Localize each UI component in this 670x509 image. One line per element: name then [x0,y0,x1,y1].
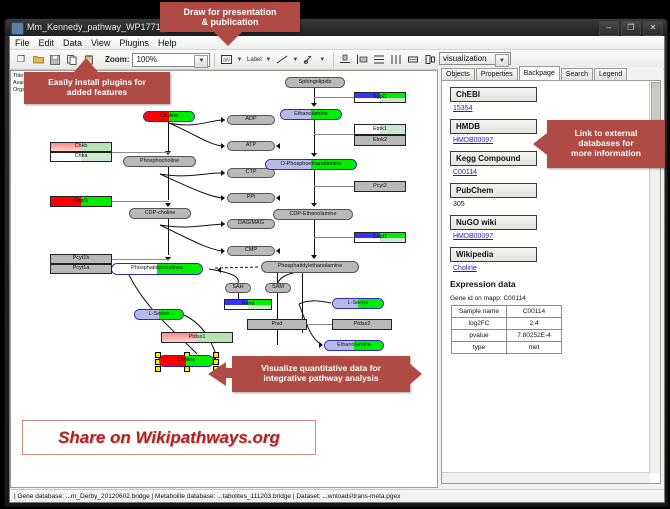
metabolite-node-ppi[interactable]: PPi [227,193,275,203]
node-label: Chka [75,154,88,160]
arrow-right-atp [221,143,225,149]
metabolite-node-cdp-choline[interactable]: CDP-choline [129,208,191,219]
interaction-dropdown-icon[interactable]: ▼ [319,57,325,63]
node-label: Choline [177,358,196,364]
edge-choline-phosphocholine [168,122,169,152]
gene-node-chpt1[interactable]: Chpt1 [50,196,112,207]
edge-pcyt1-to-backbone [112,259,169,260]
callout-share-text: Share on Wikipathways.org [58,428,280,448]
gene-node-pcyt1a[interactable]: Pcyt1a [50,264,112,274]
node-label: ATP [246,143,256,149]
metabolite-node-sam[interactable]: SAM [265,283,291,293]
menu-view[interactable]: View [91,38,110,48]
arrow-left-ppi-r [276,195,280,201]
metabolite-node-l-serine-left[interactable]: L-Serine [134,309,184,320]
cell-value-type: met [507,342,562,354]
cell-value-pvalue: 7.80252E-4 [507,330,562,342]
node-label: Sgpl1 [373,95,387,101]
db-header-hmdb: HMDB [450,119,537,134]
arrow-right-ppi [221,195,225,201]
zoom-combobox[interactable]: 100% ▼ [132,53,210,67]
callout-plugins-arrow-stem [81,70,91,76]
title-bar[interactable]: Mm_Kennedy_pathway_WP1771_45176.gpml – ❐… [5,19,667,36]
arrow-down-ethanolamine [311,103,317,107]
arrow-right-ethanolamine-bot [319,342,323,348]
db-value-pubchem: 305 [453,201,650,208]
arrow-down-cdpcholine [165,203,171,207]
label-icon[interactable]: Label [246,53,262,67]
db-header-chebi: ChEBI [450,87,537,102]
expression-data-title: Expression data [450,279,650,289]
arrow-right-ctp [221,170,225,176]
node-label: Chkb [75,144,88,150]
node-label: CTP [246,170,257,176]
db-header-wikipedia: Wikipedia [450,247,537,262]
metabolite-node-sphingolipids[interactable]: Sphingolipids [285,77,345,88]
align-bottom-icon[interactable] [338,53,352,67]
datanode-dropdown-icon[interactable]: ▼ [236,57,242,63]
gene-node-cept1[interactable]: Cept1 [354,232,406,243]
metabolite-node-choline-top[interactable]: Choline [143,111,195,122]
arrow-right-dag [221,221,225,227]
table-row: pvalue 7.80252E-4 [452,330,562,342]
menu-plugins[interactable]: Plugins [119,38,149,48]
node-label: Ptdss2 [354,322,371,328]
edge-pcyt2-to-backbone [314,186,355,187]
node-label: Phosphocholine [140,159,179,165]
toolbar-separator-2 [333,53,334,67]
node-label: Ethanolamine [337,343,371,349]
db-header-pubchem: PubChem [450,183,537,198]
callout-visualize: Visualize quantitative data for integrat… [232,356,410,392]
metabolite-node-phosphatidylcholines[interactable]: Phosphatidylcholines [111,263,203,275]
distribute-vertical-icon[interactable] [372,53,386,67]
node-label: Cept1 [373,235,388,241]
callout-plugins-line2: added features [48,88,146,98]
node-label: DAG/MAG [238,221,264,227]
callout-links-line3: more information [571,149,641,159]
save-icon[interactable] [48,53,62,67]
metabolite-node-ethanolamine-top[interactable]: Ethanolamine [280,109,342,120]
tab-objects[interactable]: Objects [441,68,475,80]
db-link-nugo[interactable]: HMDB00097 [453,233,650,240]
datanode-icon[interactable]: aN [219,53,233,67]
db-link-wikipedia[interactable]: Choline [453,265,650,272]
edge-cdp-pc [168,219,169,255]
gene-node-ptdss2[interactable]: Ptdss2 [332,319,392,330]
callout-links-arrow-stem [545,139,551,149]
node-label: PPi [247,195,256,201]
metabolite-node-l-serine-right[interactable]: L-Serine [332,298,384,309]
metabolite-node-phosphocholine[interactable]: Phosphocholine [123,156,196,167]
close-button[interactable]: ✕ [643,21,663,36]
edge-chk-to-backbone [112,152,169,153]
callout-share: Share on Wikipathways.org [22,420,316,455]
node-label: SAH [232,285,243,291]
edge-sphingolipids-ethanolamine [314,88,315,104]
visualization-value: visualization [443,54,487,63]
screenshot-root: Mm_Kennedy_pathway_WP1771_45176.gpml – ❐… [0,0,670,509]
node-label: Etnk1 [373,127,387,133]
svg-text:aN: aN [223,58,230,64]
gene-node-pemt[interactable]: Pemt [224,299,272,310]
gene-id-on-mapp: Gene id on mapp: C00114 [450,295,650,302]
tab-properties[interactable]: Properties [476,68,518,80]
node-label: ADP [245,117,256,123]
db-link-chebi[interactable]: 15354 [453,105,650,112]
resize-handle-6[interactable] [184,366,190,372]
status-bar: | Gene database: ...m_Derby_20120602.bri… [10,489,664,502]
node-label: Phosphatidylethanolamine [278,264,343,270]
gene-node-chka[interactable]: Chka [50,152,112,162]
node-label: CDP-Ethanolamine [289,212,336,218]
tab-legend[interactable]: Legend [594,68,627,80]
node-label: Sphingolipids [299,80,332,86]
status-text: | Gene database: ...m_Derby_20120602.bri… [14,493,400,500]
label-dropdown-icon[interactable]: ▼ [265,57,271,63]
node-label: Chpt1 [74,199,89,205]
node-label: Phosphatidylcholines [131,266,183,272]
menu-bar: File Edit Data View Plugins Help [10,36,664,50]
metabolite-node-cdp-ethanolamine[interactable]: CDP-Ethanolamine [273,209,353,220]
new-file-icon[interactable]: ❐ [14,53,28,67]
arrow-left-sah [217,267,221,273]
gene-node-sgpl1[interactable]: Sgpl1 [354,92,406,103]
menu-file[interactable]: File [15,38,30,48]
arrow-down-ope [311,153,317,157]
gene-node-chkb[interactable]: Chkb [50,142,112,152]
metabolite-node-sah[interactable]: SAH [225,283,251,293]
node-label: Choline [160,114,179,120]
table-row: log2FC 2.4 [452,318,562,330]
line-dropdown-icon[interactable]: ▼ [292,57,298,63]
edge-etnk-to-backbone [314,134,355,135]
distribute-horizontal-icon[interactable] [389,53,403,67]
callout-draw-arrow-stem [222,30,234,36]
metabolite-node-cmp[interactable]: CMP [227,246,275,256]
node-label: Pisd [272,322,283,328]
zoom-label: Zoom: [105,55,129,64]
backpage-horizontal-scrollbar[interactable] [442,472,650,483]
edge-phosphocholine-cdp [168,167,169,200]
menu-edit[interactable]: Edit [39,38,55,48]
window-controls: – ❐ ✕ [599,21,663,36]
metabolite-node-atp[interactable]: ATP [227,141,275,151]
side-panel-tabs: Objects Properties Backpage Search Legen… [441,67,661,80]
arrow-right-adp [221,117,225,123]
node-label: SAM [272,285,284,291]
app-icon [11,22,24,35]
callout-draw: Draw for presentation & publication [160,2,300,32]
callout-draw-line1: Draw for presentation [183,7,276,17]
expression-table: Sample name C00114 log2FC 2.4 pvalue 7.8… [451,305,562,354]
callout-draw-line2: & publication [183,17,276,27]
menu-help[interactable]: Help [158,38,177,48]
arrow-left-cmp-r [276,248,280,254]
chevron-down-icon-visualization[interactable]: ▼ [495,54,509,67]
gene-node-ptdss1[interactable]: Ptdss1 [161,332,233,343]
metabolite-node-dag-mag[interactable]: DAG/MAG [227,219,275,229]
cell-label-sample-name: Sample name [452,306,507,318]
node-label: Pemt [242,302,255,308]
gene-node-pcyt2[interactable]: Pcyt2 [354,181,406,192]
zoom-value: 100% [136,55,156,64]
callout-visualize-arrow-right-icon [408,362,422,386]
metabolite-node-choline-selected[interactable]: Choline [158,355,214,367]
chevron-down-icon[interactable]: ▼ [194,55,208,68]
menu-data[interactable]: Data [63,38,82,48]
gene-node-etnk2[interactable]: Etnk2 [354,135,406,146]
interaction-icon[interactable] [302,53,316,67]
node-label: Pcyt1a [73,266,90,272]
same-width-icon[interactable] [406,53,420,67]
edge-sgpl1-to-backbone [314,97,355,98]
resize-handle-5[interactable] [155,366,161,372]
node-label: CDP-choline [145,211,176,217]
metabolite-node-ethanolamine-bot[interactable]: Ethanolamine [324,340,384,351]
gene-node-pcyt1b[interactable]: Pcyt1b [50,254,112,264]
db-link-kegg[interactable]: C00114 [453,169,650,176]
node-label: L-Serine [348,301,369,307]
cell-value-log2fc: 2.4 [507,318,562,330]
table-row: type met [452,342,562,354]
minimize-button[interactable]: – [599,21,619,36]
arrow-down-cdpetn [311,203,317,207]
edge-chpt1-to-backbone [112,201,169,202]
tab-backpage[interactable]: Backpage [519,66,560,80]
node-label: Etnk2 [373,138,387,144]
tab-search[interactable]: Search [561,68,593,80]
gene-node-etnk1[interactable]: Etnk1 [354,124,406,135]
node-label: Pcyt2 [373,184,387,190]
same-height-icon[interactable] [423,53,437,67]
node-label: Pcyt1b [73,256,90,262]
callout-visualize-arrow-stem [224,368,234,378]
node-label: Ptdss1 [189,335,206,341]
line-icon[interactable] [275,53,289,67]
visualization-combobox[interactable]: visualization ▼ [439,52,511,65]
cell-label-log2fc: log2FC [452,318,507,330]
cell-label-type: type [452,342,507,354]
node-label: Ethanolamine [294,112,328,118]
align-left-icon[interactable] [355,53,369,67]
edge-ethanolamine-ope [314,120,315,153]
metabolite-node-o-phosphoethanolamine[interactable]: O-Phosphoethanolamine [265,159,357,170]
arrow-left-atp-r [276,143,280,149]
toolbar-separator [214,53,215,67]
node-label: O-Phosphoethanolamine [281,162,342,168]
metabolite-node-phosphatidylethanolamine[interactable]: Phosphatidylethanolamine [261,261,359,273]
node-label: L-Serine [149,312,170,318]
arrow-right-cmp [221,248,225,254]
callout-links: Link to external databases for more info… [547,120,665,168]
metabolite-node-adp[interactable]: ADP [227,115,275,125]
db-header-nugo: NuGO wiki [450,215,537,230]
gene-node-pisd[interactable]: Pisd [247,319,307,330]
edge-pisd-line [307,324,333,325]
table-row: Sample name C00114 [452,306,562,318]
cell-value-sample-name: C00114 [507,306,562,318]
open-folder-icon[interactable] [31,53,45,67]
callout-visualize-line2: integrative pathway analysis [261,374,381,384]
cell-label-pvalue: pvalue [452,330,507,342]
callout-plugins: Easily install plugins for added feature… [24,72,170,104]
resize-handle-2[interactable] [213,352,219,358]
maximize-button[interactable]: ❐ [621,21,641,36]
arrow-down-pe [311,255,317,259]
node-label: CMP [245,248,257,254]
edge-cept1-to-backbone [314,237,355,238]
db-header-kegg: Kegg Compound [450,151,537,166]
